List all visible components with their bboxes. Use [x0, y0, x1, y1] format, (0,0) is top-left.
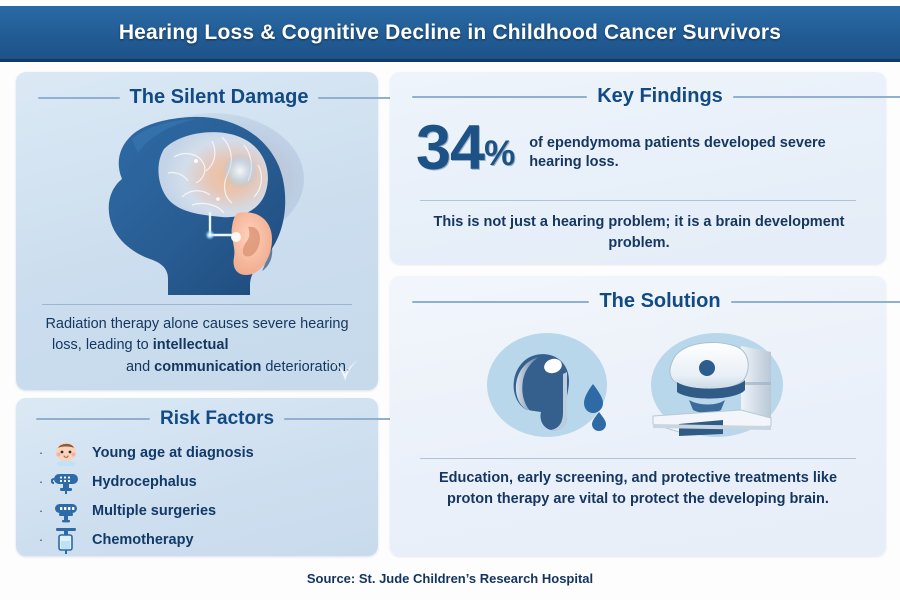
solution-title-row: The Solution — [390, 276, 900, 313]
stat-number: 34 — [416, 120, 484, 178]
title-rule-right — [733, 96, 900, 98]
bullet: · — [34, 446, 48, 459]
infographic-canvas: Hearing Loss & Cognitive Decline in Chil… — [0, 0, 900, 600]
stat-description: of ependymoma patients developed severe … — [529, 134, 829, 172]
caption-line-1: Radiation therapy alone causes severe he… — [45, 316, 348, 332]
silent-damage-title: The Silent Damage — [130, 86, 309, 109]
caption-line-3-plain: and — [126, 359, 154, 375]
risk-factors-title: Risk Factors — [160, 408, 274, 430]
bullet: · — [34, 475, 48, 488]
iv-drip-bottle-icon — [48, 525, 84, 555]
key-findings-divider — [420, 200, 856, 201]
risk-label: Young age at diagnosis — [84, 445, 254, 461]
key-stat-row: 34 % of ependymoma patients developed se… — [416, 120, 868, 178]
bullet: · — [34, 533, 48, 546]
key-findings-title-row: Key Findings — [390, 72, 900, 108]
checkmark-swoosh-icon — [330, 357, 360, 383]
caption-line-2: loss, leading to intellectual — [38, 335, 356, 356]
surgical-implant-icon — [48, 496, 84, 526]
source-text: Source: St. Jude Children’s Research Hos… — [307, 571, 593, 586]
shunt-device-icon — [48, 467, 84, 497]
title-rule-right — [318, 97, 400, 99]
caption-divider — [42, 304, 352, 305]
panel-risk-factors: Risk Factors · — [16, 398, 378, 556]
key-findings-statement: This is not just a hearing problem; it i… — [424, 212, 854, 253]
child-head-illustration-wrap — [16, 108, 378, 298]
proton-therapy-machine-icon — [645, 324, 795, 446]
child-head-brain-ear-illustration — [72, 109, 322, 297]
panel-silent-damage: The Silent Damage — [16, 72, 378, 390]
silent-damage-title-row: The Silent Damage — [16, 72, 422, 109]
title-rule-left — [412, 96, 587, 98]
caption-line-2-bold: intellectual — [153, 337, 229, 353]
title-rule-left — [38, 97, 120, 99]
silent-damage-caption: Radiation therapy alone causes severe he… — [38, 314, 356, 378]
title-rule-right — [284, 418, 398, 420]
risk-label: Chemotherapy — [84, 532, 194, 548]
panel-solution: The Solution — [390, 276, 886, 556]
list-item: · Young age at diagnosis — [34, 438, 364, 467]
list-item: · Chemotherapy — [34, 525, 364, 554]
key-findings-title: Key Findings — [597, 85, 723, 108]
solution-icon-row — [390, 320, 886, 450]
bullet: · — [34, 504, 48, 517]
solution-divider — [420, 458, 856, 459]
list-item: · Multiple sur — [34, 496, 364, 525]
statement-part-1: This is not just a hearing problem; it i… — [434, 214, 716, 230]
footer: Source: St. Jude Children’s Research Hos… — [0, 562, 900, 594]
statement-emphasis: brain — [716, 214, 751, 230]
panel-key-findings: Key Findings 34 % of ependymoma patients… — [390, 72, 886, 264]
hearing-aid-icon — [481, 324, 621, 446]
risk-label: Multiple surgeries — [84, 503, 216, 519]
caption-line-3-bold: communication — [154, 359, 261, 375]
list-item: · Hydrocephalus — [34, 467, 364, 496]
title-rule-right — [731, 301, 900, 303]
solution-caption: Education, early screening, and protecti… — [418, 468, 858, 511]
risk-label: Hydrocephalus — [84, 474, 197, 490]
stat-percent-sign: % — [484, 136, 515, 171]
page-title: Hearing Loss & Cognitive Decline in Chil… — [119, 21, 781, 45]
header-band: Hearing Loss & Cognitive Decline in Chil… — [0, 6, 900, 62]
caption-line-2-plain: loss, leading to — [52, 337, 153, 353]
baby-face-icon — [48, 438, 84, 468]
caption-line-3: and communication deterioration. — [38, 357, 356, 378]
risk-factors-title-row: Risk Factors — [16, 398, 418, 430]
title-rule-left — [36, 418, 150, 420]
risk-factor-list: · Young age at diagnosis — [34, 438, 364, 554]
title-rule-left — [412, 301, 589, 303]
solution-title: The Solution — [599, 290, 720, 313]
